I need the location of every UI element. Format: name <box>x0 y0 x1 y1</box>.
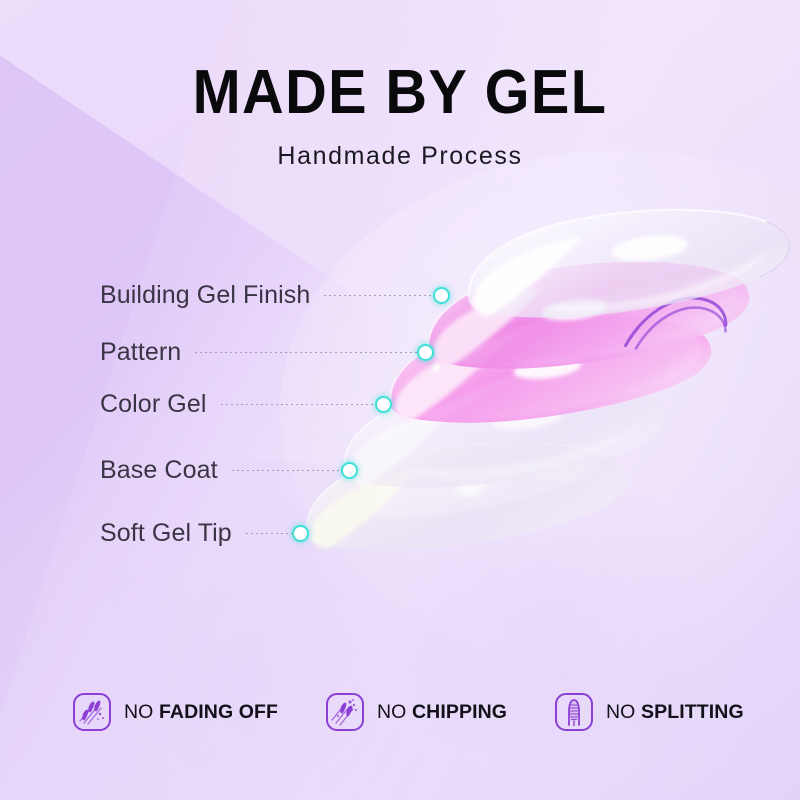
nail-polish-chips-icon <box>325 692 365 732</box>
layer-label-text: Soft Gel Tip <box>100 519 232 548</box>
poster-canvas: MADE BY GEL Handmade Process <box>0 0 800 800</box>
feature-emphasis: FADING OFF <box>159 701 278 723</box>
nail-split-icon <box>554 692 594 732</box>
leader-line <box>232 470 342 471</box>
feature-badge-label: NO SPLITTING <box>606 701 744 724</box>
feature-badge-row: NO FADING OFF <box>0 682 800 742</box>
feature-prefix: NO <box>377 701 406 723</box>
layer-label-text: Color Gel <box>100 390 207 419</box>
feature-badge-no-splitting[interactable]: NO SPLITTING <box>554 692 744 732</box>
layer-label-row[interactable]: Soft Gel Tip <box>100 516 309 550</box>
leader-line <box>246 533 293 534</box>
leader-line <box>324 295 434 296</box>
feature-badge-no-chipping[interactable]: NO CHIPPING <box>325 692 507 732</box>
feature-prefix: NO <box>606 701 635 723</box>
feature-emphasis: SPLITTING <box>641 701 744 723</box>
feature-emphasis: CHIPPING <box>412 701 507 723</box>
feature-badge-label: NO CHIPPING <box>377 701 507 724</box>
layer-label-row[interactable]: Color Gel <box>100 387 392 421</box>
leader-dot[interactable] <box>433 287 450 304</box>
layer-label-row[interactable]: Base Coat <box>100 453 358 487</box>
layer-label-text: Pattern <box>100 338 181 367</box>
layer-label-list: Building Gel Finish Pattern Color Gel Ba… <box>0 0 800 800</box>
layer-label-text: Building Gel Finish <box>100 281 310 310</box>
layer-label-text: Base Coat <box>100 456 218 485</box>
feature-prefix: NO <box>124 701 153 723</box>
leader-line <box>195 352 418 353</box>
leader-dot[interactable] <box>341 462 358 479</box>
feature-badge-label: NO FADING OFF <box>124 701 278 724</box>
leader-line <box>221 404 376 405</box>
layer-label-row[interactable]: Pattern <box>100 335 434 369</box>
layer-label-row[interactable]: Building Gel Finish <box>100 278 450 312</box>
leader-dot[interactable] <box>417 344 434 361</box>
nail-polish-streaks-icon <box>72 692 112 732</box>
leader-dot[interactable] <box>292 525 309 542</box>
leader-dot[interactable] <box>375 396 392 413</box>
feature-badge-no-fading-off[interactable]: NO FADING OFF <box>72 692 278 732</box>
